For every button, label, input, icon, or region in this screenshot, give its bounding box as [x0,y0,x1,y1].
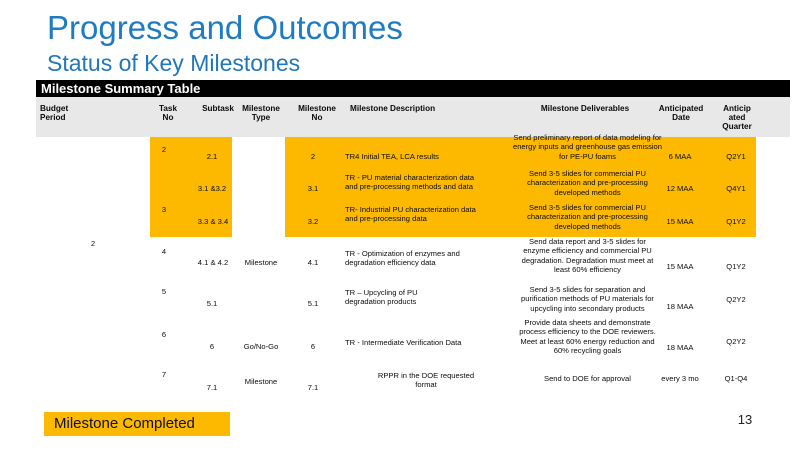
table-row-4-milestone-no: 4.1 [300,258,326,267]
table-row-3-task-no: 3 [152,205,176,214]
table-row-6-subtask: 6 [194,342,230,351]
table-row-2-subtask: 3.1 &3.2 [191,184,233,193]
table-row-2-anticipated-quarter: Q4Y1 [715,184,757,193]
table-row-2-deliverables: Send 3-5 slides for commercial PU charac… [495,169,680,197]
table-row-6-milestone-no: 6 [300,342,326,351]
table-row-7-subtask: 7.1 [192,383,232,392]
column-header-milestone-type: Milestone Type [234,104,288,122]
table-row-2-anticipated-date: 12 MAA [655,184,705,193]
table-row-4-anticipated-quarter: Q1Y2 [715,262,757,271]
table-row-5-description: TR – Upcycling of PU degradation product… [345,288,507,307]
cell-budget-period: 2 [76,239,110,248]
table-row-7-description: RPPR in the DOE requested format [345,371,507,390]
table-row-3-anticipated-date: 15 MAA [655,217,705,226]
table-banner-label: Milestone Summary Table [41,81,200,96]
table-row-5-anticipated-quarter: Q2Y2 [715,295,757,304]
table-row-7-anticipated-date: every 3 mo [655,374,705,383]
table-row-5-deliverables: Send 3-5 slides for separation and purif… [495,285,680,313]
column-header-task-no: Task No [145,104,191,122]
table-row-2-milestone-no: 3.1 [300,184,326,193]
table-row-5-anticipated-date: 18 MAA [655,302,705,311]
table-row-6-milestone-type: Go/No-Go [234,342,288,351]
column-header-anticipated-date: Anticipated Date [650,104,712,122]
slide-canvas: Progress and Outcomes Status of Key Mile… [0,0,800,450]
column-header-anticipated-quarter: Anticip ated Quarter [714,104,760,131]
page-subtitle: Status of Key Milestones [47,50,300,76]
column-header-budget-period: Budget Period [40,104,120,122]
table-row-6-task-no: 6 [152,330,176,339]
table-row-6-anticipated-quarter: Q2Y2 [715,337,757,346]
table-row-1-description: TR4 Initial TEA, LCA results [345,152,505,161]
column-header-milestone-no: Milestone No [290,104,344,122]
table-row-3-description: TR- Industrial PU characterization data … [345,205,507,224]
table-row-7-milestone-no: 7.1 [300,383,326,392]
table-row-7-deliverables: Send to DOE for approval [495,374,680,383]
table-row-2-description: TR - PU material characterization data a… [345,173,505,192]
table-row-6-deliverables: Provide data sheets and demonstrate proc… [495,318,680,356]
table-row-5-subtask: 5.1 [192,299,232,308]
table-row-4-subtask: 4.1 & 4.2 [190,258,236,267]
table-row-6-description: TR - Intermediate Verification Data [345,338,507,347]
table-row-3-anticipated-quarter: Q1Y2 [715,217,757,226]
table-row-5-milestone-no: 5.1 [300,299,326,308]
table-row-6-anticipated-date: 18 MAA [655,343,705,352]
column-header-milestone-description: Milestone Description [350,104,510,113]
page-number: 13 [733,412,757,428]
table-banner: Milestone Summary Table [36,80,790,97]
table-row-5-task-no: 5 [152,287,176,296]
table-row-1-milestone-no: 2 [300,152,326,161]
page-title: Progress and Outcomes [47,10,403,46]
table-row-4-anticipated-date: 15 MAA [655,262,705,271]
table-row-7-anticipated-quarter: Q1-Q4 [715,374,757,383]
table-row-3-deliverables: Send 3-5 slides for commercial PU charac… [495,203,680,231]
table-row-1-subtask: 2.1 [192,152,232,161]
legend-milestone-completed: Milestone Completed [44,412,230,436]
table-row-4-task-no: 4 [152,247,176,256]
table-row-4-milestone-type: Milestone [234,258,288,267]
table-row-3-subtask: 3.3 & 3.4 [191,217,235,226]
table-row-3-milestone-no: 3.2 [300,217,326,226]
table-row-1-anticipated-date: 6 MAA [655,152,705,161]
legend-label: Milestone Completed [54,415,195,433]
table-row-7-task-no: 7 [152,370,176,379]
table-row-4-deliverables: Send data report and 3-5 slides for enzy… [495,237,680,275]
table-row-1-anticipated-quarter: Q2Y1 [715,152,757,161]
table-row-1-task-no: 2 [152,145,176,154]
table-row-7-milestone-type: Milestone [234,377,288,386]
table-row-4-description: TR - Optimization of enzymes and degrada… [345,249,507,268]
table-row-1-deliverables: Send preliminary report of data modeling… [495,133,680,161]
